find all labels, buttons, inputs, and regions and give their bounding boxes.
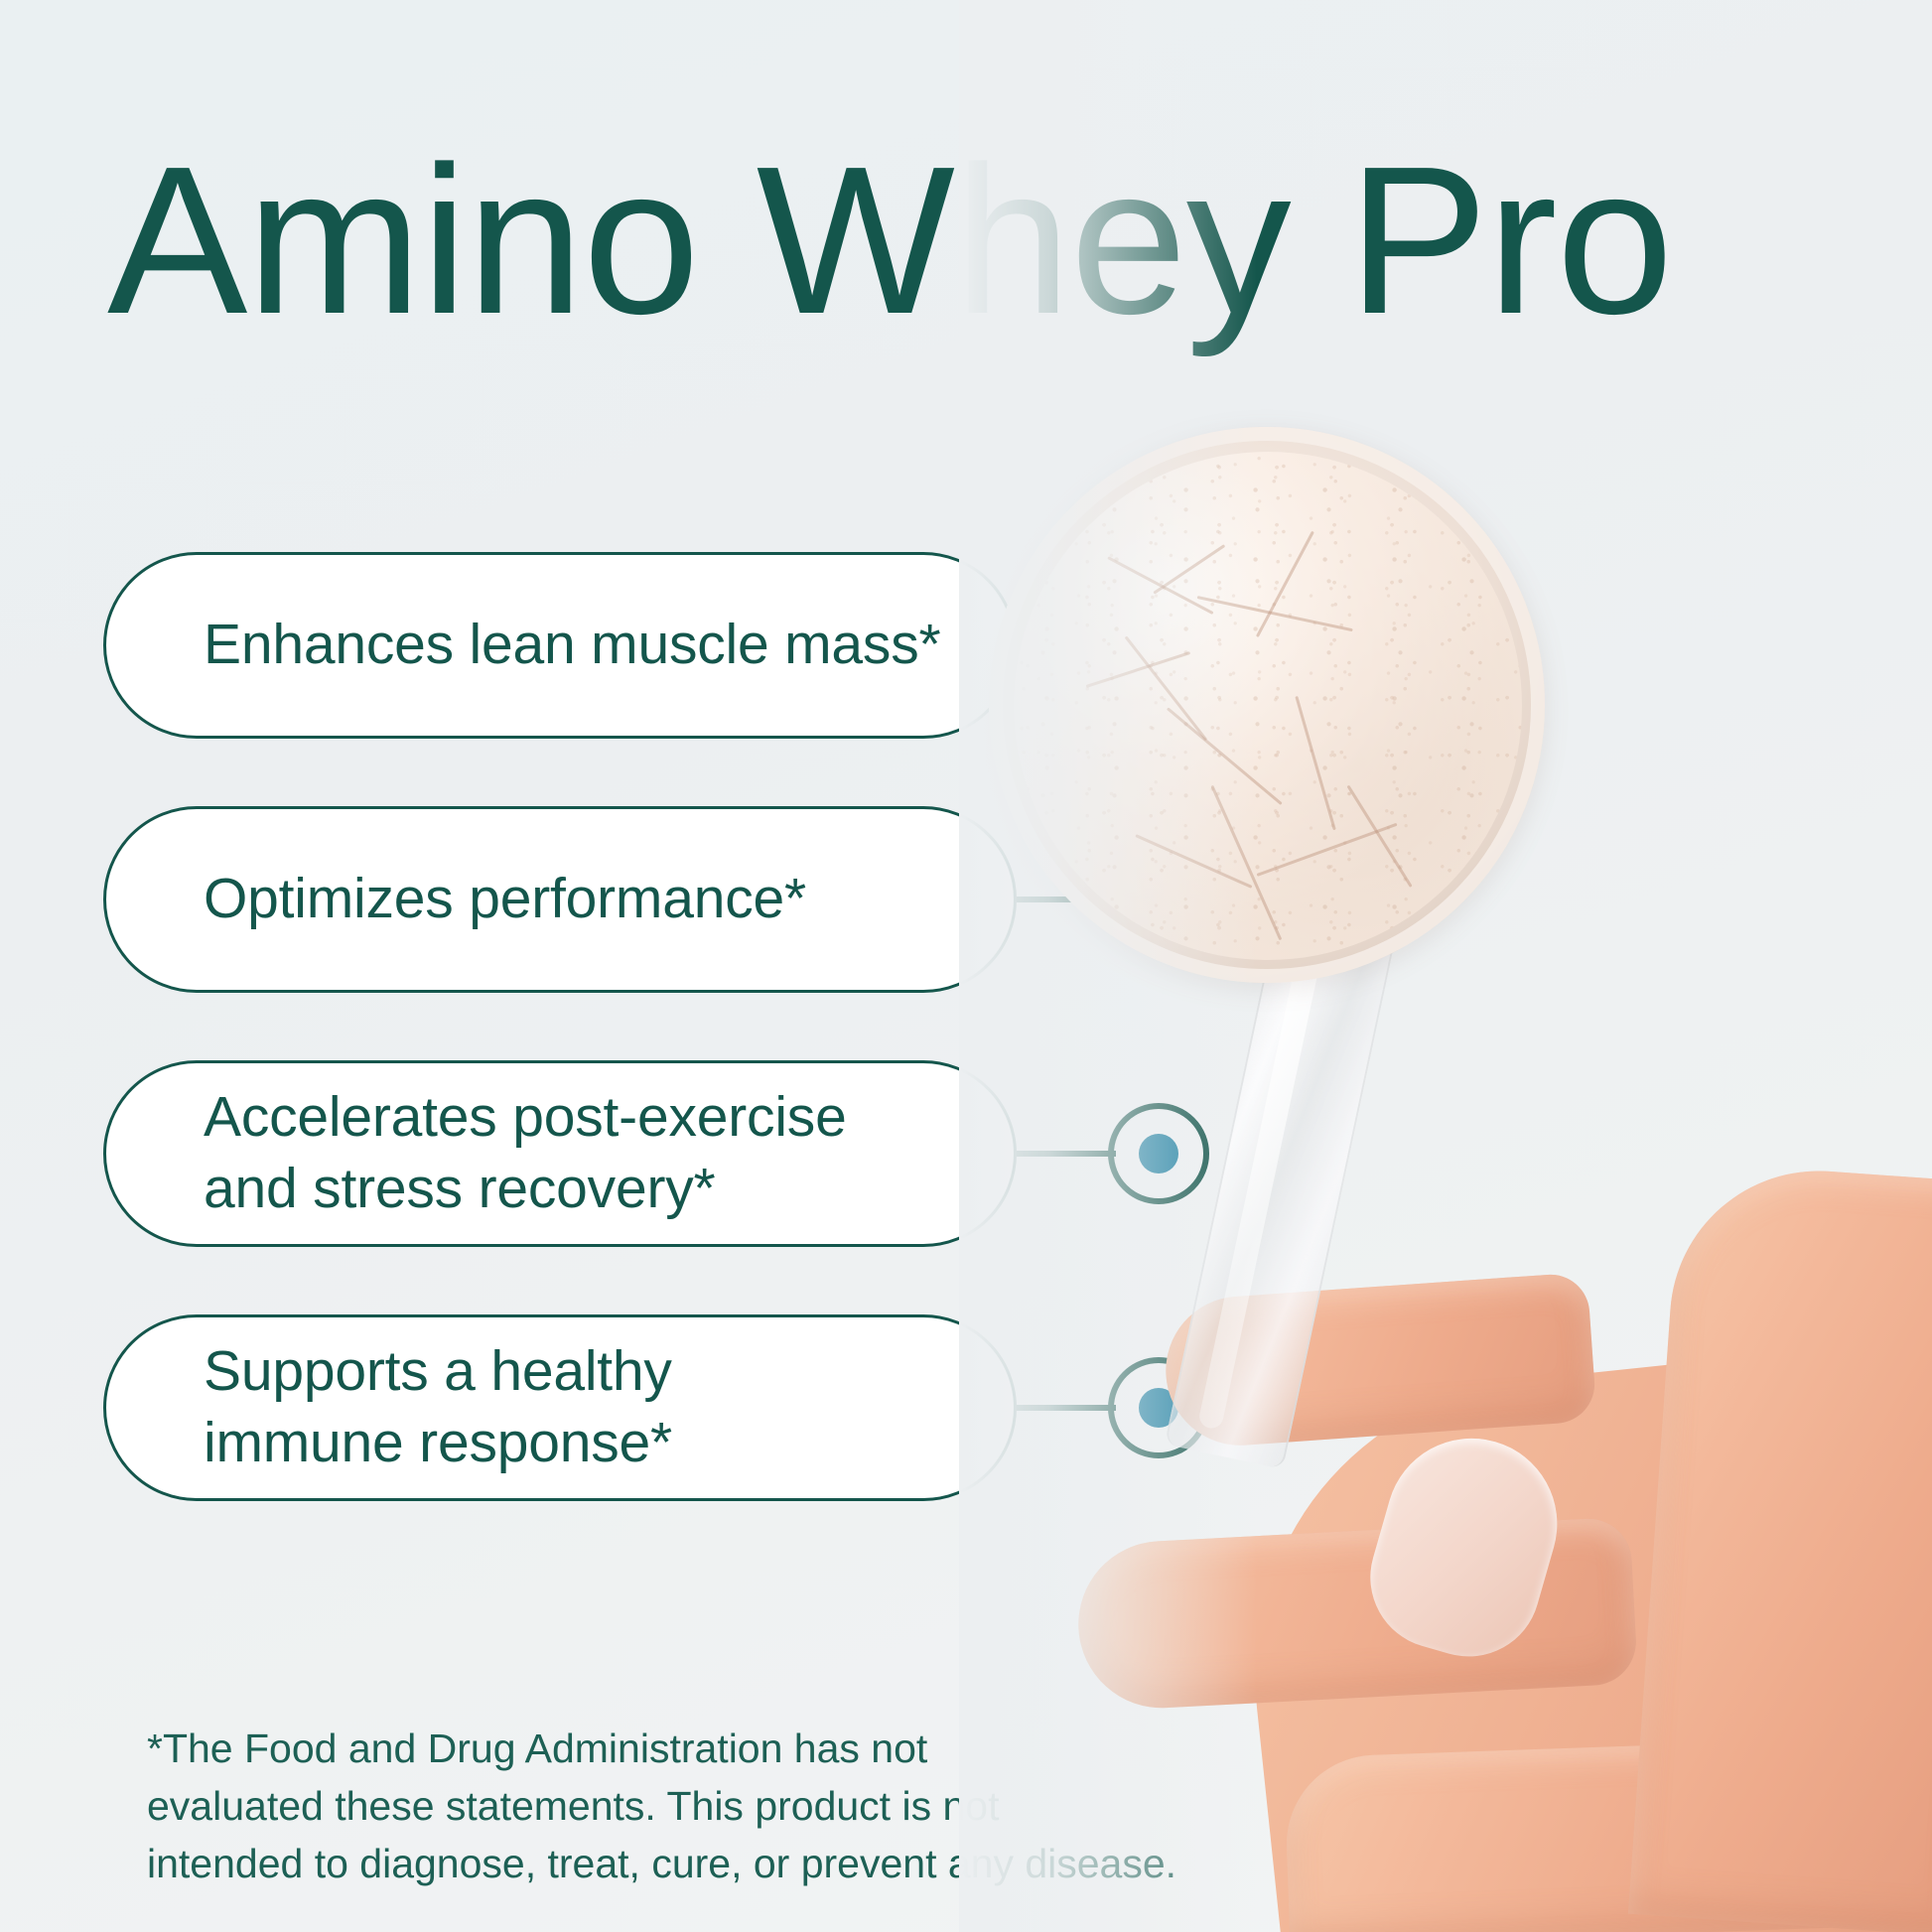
powder-crack-icon <box>1296 696 1336 830</box>
powder-crack-icon <box>1347 785 1413 888</box>
benefit-pill-4[interactable]: Supports a healthy immune response* <box>103 1314 1017 1501</box>
benefit-label: Supports a healthy immune response* <box>204 1336 672 1479</box>
powder-crack-icon <box>1197 596 1353 631</box>
scoop-handle-highlight-icon <box>1197 901 1332 1431</box>
bullet-dot-icon <box>1139 1388 1178 1428</box>
finger-index-icon <box>1161 1272 1596 1450</box>
benefit-row: Supports a healthy immune response* <box>103 1314 1185 1501</box>
thumb-icon <box>1628 1161 1932 1932</box>
benefit-row: Enhances lean muscle mass* <box>103 552 1185 739</box>
benefit-label: Accelerates post-exercise and stress rec… <box>204 1082 847 1225</box>
bullet-dot-icon <box>1139 625 1178 665</box>
connector-line-icon <box>1017 1405 1116 1411</box>
powder-crack-icon <box>1211 785 1282 940</box>
connector-line-icon <box>1017 1151 1116 1157</box>
powder-crack-icon <box>1257 823 1398 877</box>
page-title: Amino Whey Pro <box>107 135 1894 345</box>
benefit-pill-1[interactable]: Enhances lean muscle mass* <box>103 552 1017 739</box>
connector-line-icon <box>1017 897 1116 902</box>
benefit-pill-2[interactable]: Optimizes performance* <box>103 806 1017 993</box>
benefit-label: Optimizes performance* <box>204 864 806 935</box>
connector-line-icon <box>1017 642 1116 648</box>
hand-icon <box>1226 1332 1932 1932</box>
benefit-label: Enhances lean muscle mass* <box>204 610 941 681</box>
benefits-list: Enhances lean muscle mass* Optimizes per… <box>103 552 1185 1501</box>
bullet-dot-icon <box>1139 1134 1178 1173</box>
infographic-canvas: Amino Whey Pro Enhances lean muscle mass… <box>0 0 1932 1932</box>
fingernail-icon <box>1353 1419 1577 1674</box>
benefit-pill-3[interactable]: Accelerates post-exercise and stress rec… <box>103 1060 1017 1247</box>
finger-ring-icon <box>1284 1736 1905 1932</box>
fda-disclaimer: *The Food and Drug Administration has no… <box>147 1720 1219 1893</box>
powder-crack-icon <box>1256 531 1314 637</box>
bullet-dot-icon <box>1139 880 1178 919</box>
finger-middle-icon <box>1074 1516 1638 1712</box>
benefit-row: Optimizes performance* <box>103 806 1185 993</box>
benefit-row: Accelerates post-exercise and stress rec… <box>103 1060 1185 1247</box>
